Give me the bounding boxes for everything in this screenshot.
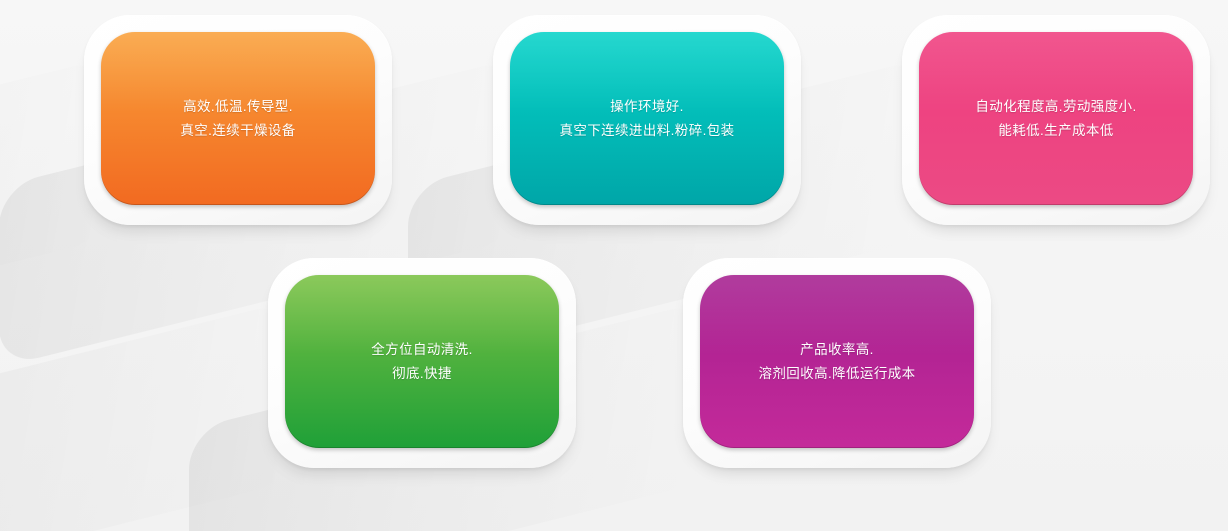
card-automation-label: 自动化程度高.劳动强度小. 能耗低.生产成本低 [965,95,1146,142]
card-yield-panel: 产品收率高. 溶剂回收高.降低运行成本 [700,275,974,448]
infographic-canvas: 高效.低温.传导型. 真空.连续干燥设备操作环境好. 真空下连续进出料.粉碎.包… [0,0,1228,531]
card-yield[interactable]: 产品收率高. 溶剂回收高.降低运行成本 [683,258,991,468]
card-automation-panel: 自动化程度高.劳动强度小. 能耗低.生产成本低 [919,32,1193,205]
card-cleaning[interactable]: 全方位自动清洗. 彻底.快捷 [268,258,576,468]
long-shadow-card-cleaning [0,300,294,531]
card-environment[interactable]: 操作环境好. 真空下连续进出料.粉碎.包装 [493,15,801,225]
card-efficiency-label: 高效.低温.传导型. 真空.连续干燥设备 [170,95,305,142]
card-efficiency[interactable]: 高效.低温.传导型. 真空.连续干燥设备 [84,15,392,225]
card-automation[interactable]: 自动化程度高.劳动强度小. 能耗低.生产成本低 [902,15,1210,225]
card-environment-label: 操作环境好. 真空下连续进出料.粉碎.包装 [549,95,744,142]
card-yield-label: 产品收率高. 溶剂回收高.降低运行成本 [748,338,925,385]
card-cleaning-label: 全方位自动清洗. 彻底.快捷 [361,338,482,385]
card-cleaning-panel: 全方位自动清洗. 彻底.快捷 [285,275,559,448]
card-environment-panel: 操作环境好. 真空下连续进出料.粉碎.包装 [510,32,784,205]
card-efficiency-panel: 高效.低温.传导型. 真空.连续干燥设备 [101,32,375,205]
